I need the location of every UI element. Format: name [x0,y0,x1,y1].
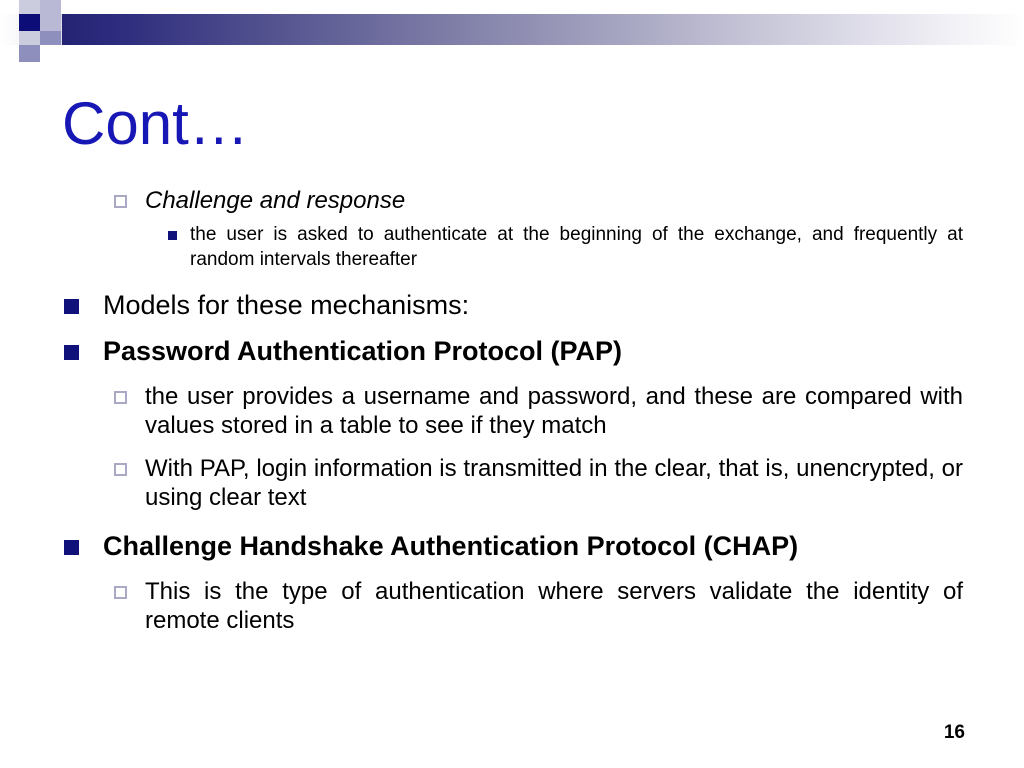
bullet-hollow-square-icon [114,391,127,404]
content-list: Challenge and response the user is asked… [0,186,1024,635]
list-item-text: the user is asked to authenticate at the… [190,223,963,272]
deco-square-5 [19,31,40,45]
deco-square-1 [40,0,61,14]
list-item: the user is asked to authenticate at the… [0,223,1024,272]
list-item-text: Models for these mechanisms: [103,290,963,322]
header-gradient-bar [57,14,1024,45]
bullet-square-icon [64,299,79,314]
deco-square-8 [61,0,82,14]
list-item-text: Challenge Handshake Authentication Proto… [103,531,963,563]
bullet-hollow-square-icon [114,586,127,599]
deco-square-4 [40,14,61,31]
bullet-square-icon [64,540,79,555]
deco-square-6 [40,31,61,45]
list-item: the user provides a username and passwor… [0,382,1024,441]
list-item: Challenge Handshake Authentication Proto… [0,531,1024,563]
deco-square-3 [19,14,40,31]
bullet-square-icon [64,345,79,360]
list-item: This is the type of authentication where… [0,577,1024,636]
deco-square-7 [19,45,40,62]
bullet-hollow-square-icon [114,463,127,476]
slide: Cont… Challenge and response the user is… [0,0,1024,768]
list-item: Challenge and response [0,186,1024,215]
list-item-text: Password Authentication Protocol (PAP) [103,336,963,368]
list-item: Models for these mechanisms: [0,290,1024,322]
list-item: Password Authentication Protocol (PAP) [0,336,1024,368]
header-decoration [0,0,1024,62]
deco-square-2 [19,0,40,14]
list-item-text: This is the type of authentication where… [145,577,963,636]
page-number: 16 [944,722,965,744]
list-item-text: With PAP, login information is transmitt… [145,454,963,513]
bullet-hollow-square-icon [114,195,127,208]
bullet-small-square-icon [168,231,177,240]
list-item-text: the user provides a username and passwor… [145,382,963,441]
list-item: With PAP, login information is transmitt… [0,454,1024,513]
slide-title: Cont… [62,92,249,155]
list-item-text: Challenge and response [145,186,963,215]
